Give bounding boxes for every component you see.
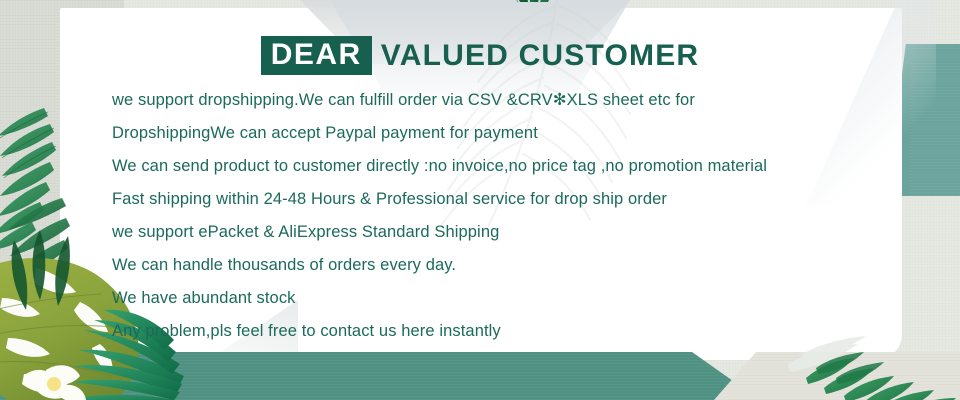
info-line: we support ePacket & AliExpress Standard…: [112, 216, 912, 249]
info-line: Any problem,pls feel free to contact us …: [112, 315, 912, 348]
info-line: We can send product to customer directly…: [112, 150, 912, 183]
page-title: DEARVALUED CUSTOMER: [0, 36, 960, 75]
info-line: We have abundant stock: [112, 282, 912, 315]
info-line: we support dropshipping.We can fulfill o…: [112, 84, 912, 117]
banner-content: DEARVALUED CUSTOMER we support dropshipp…: [0, 0, 960, 400]
dropshipping-info-banner: DEARVALUED CUSTOMER we support dropshipp…: [0, 0, 960, 400]
info-line: We can handle thousands of orders every …: [112, 249, 912, 282]
title-rest: VALUED CUSTOMER: [372, 41, 700, 71]
info-line-list: we support dropshipping.We can fulfill o…: [112, 84, 912, 348]
info-line: Fast shipping within 24-48 Hours & Profe…: [112, 183, 912, 216]
title-badge-dear: DEAR: [261, 36, 372, 75]
info-line: DropshippingWe can accept Paypal payment…: [112, 117, 912, 150]
